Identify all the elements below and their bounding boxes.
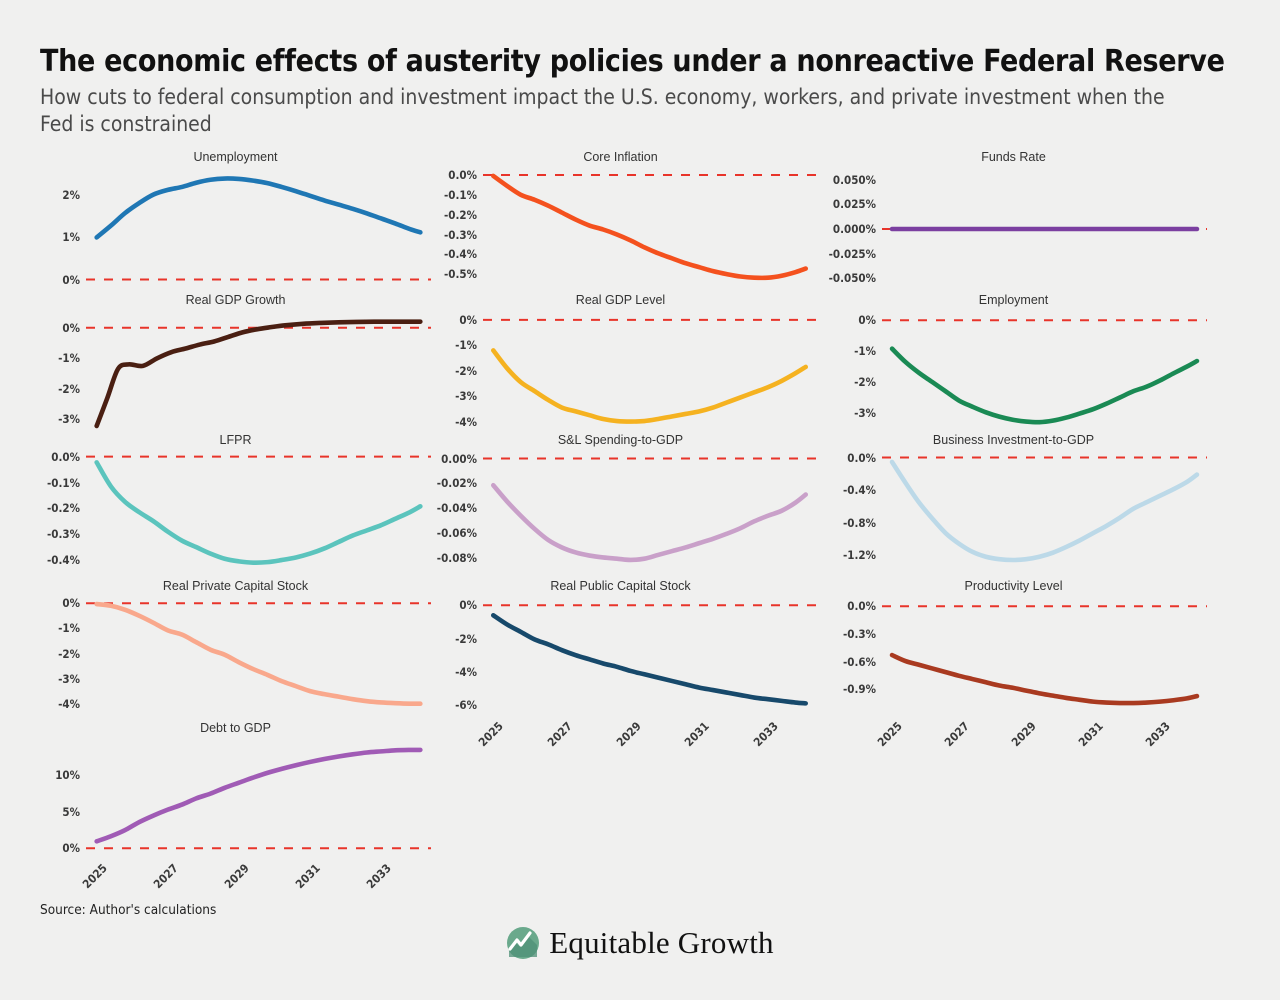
plot-area [882,311,1207,433]
x-axis: 20252027202920312033 [882,715,1207,759]
y-tick-label: 0.0% [847,599,876,613]
plot-area [86,739,431,857]
y-tick-label: -2% [58,647,80,661]
x-tick-label: 2033 [1143,719,1173,749]
plot-area [86,451,431,573]
plot-area [86,597,431,715]
y-tick-label: -0.08% [437,551,477,565]
panel-title: S&L Spending-to-GDP [425,433,816,447]
plot-area [483,451,816,573]
panel-title: Unemployment [40,150,431,164]
y-tick-label: 0.0% [847,451,876,465]
y-axis: 0.0%-0.3%-0.6%-0.9% [820,597,876,715]
y-tick-label: -0.5% [444,267,477,281]
y-tick-label: -0.06% [437,526,477,540]
panel-title: Core Inflation [425,150,816,164]
y-tick-label: 0% [62,596,80,610]
y-tick-label: -0.6% [843,655,876,669]
y-tick-label: 5% [62,805,80,819]
y-tick-label: -0.3% [843,627,876,641]
panel-title: Real Public Capital Stock [425,579,816,593]
data-line [493,485,805,560]
y-tick-label: 0% [858,313,876,327]
chart-panel: Business Investment-to-GDP0.0%-0.4%-0.8%… [820,433,1207,573]
y-tick-label: -2% [58,382,80,396]
plot-area [882,168,1207,290]
x-tick-label: 2029 [1009,719,1039,749]
y-tick-label: 0% [459,598,477,612]
chart-panel: Real Public Capital Stock0%-2%-4%-6%2025… [425,579,816,759]
y-axis: 0%1%2% [40,168,80,290]
x-tick-label: 2025 [79,861,109,891]
y-tick-label: -1% [455,338,477,352]
y-tick-label: -0.8% [843,516,876,530]
y-tick-label: 0.0% [448,168,477,182]
data-line [97,178,421,237]
data-line [97,462,421,562]
y-tick-label: 2% [62,188,80,202]
y-tick-label: -4% [455,665,477,679]
page-title: The economic effects of austerity polici… [40,46,1250,78]
y-tick-label: -2% [455,632,477,646]
y-tick-label: 0.025% [833,197,876,211]
y-tick-label: -4% [455,415,477,429]
y-tick-label: 0.000% [833,222,876,236]
y-tick-label: 0% [459,313,477,327]
chart-panel: Employment0%-1%-2%-3% [820,293,1207,433]
y-tick-label: 10% [55,768,80,782]
panel-title: Debt to GDP [40,721,431,735]
chart-grid: Unemployment0%1%2%Core Inflation0.0%-0.1… [0,146,1280,886]
y-tick-label: 0% [62,321,80,335]
y-tick-label: -3% [455,389,477,403]
x-tick-label: 2031 [293,861,323,891]
equitable-growth-logo-icon [506,926,540,960]
y-tick-label: -0.4% [444,247,477,261]
x-tick-label: 2029 [613,719,643,749]
x-tick-label: 2027 [150,861,180,891]
x-tick-label: 2033 [751,719,781,749]
y-axis: 0%-1%-2%-3%-4% [425,311,477,433]
infographic-page: The economic effects of austerity polici… [0,0,1280,1000]
panel-title: Real GDP Growth [40,293,431,307]
y-axis: 0.0%-0.1%-0.2%-0.3%-0.4%-0.5% [425,168,477,290]
chart-panel: Real Private Capital Stock0%-1%-2%-3%-4% [40,579,431,715]
y-tick-label: -2% [455,364,477,378]
y-tick-label: -0.3% [47,527,80,541]
panel-title: Real GDP Level [425,293,816,307]
y-axis: 0%5%10% [40,739,80,857]
data-line [892,655,1197,703]
plot-area [86,168,431,290]
y-tick-label: -1.2% [843,548,876,562]
data-line [493,615,805,703]
chart-panel: Funds Rate0.050%0.025%0.000%-0.025%-0.05… [820,150,1207,290]
chart-panel: LFPR0.0%-0.1%-0.2%-0.3%-0.4% [40,433,431,573]
brand-logo: Equitable Growth [0,925,1280,961]
y-tick-label: 1% [62,230,80,244]
y-axis: 0%-1%-2%-3% [820,311,876,433]
y-tick-label: -0.4% [47,553,80,567]
y-tick-label: -4% [58,697,80,711]
x-tick-label: 2025 [476,719,506,749]
y-tick-label: 0.0% [51,450,80,464]
y-tick-label: -0.025% [829,247,876,261]
data-line [493,350,805,421]
y-axis: 0%-1%-2%-3% [40,311,80,433]
data-line [892,349,1197,423]
chart-panel: S&L Spending-to-GDP0.00%-0.02%-0.04%-0.0… [425,433,816,573]
panel-title: Funds Rate [820,150,1207,164]
data-line [97,750,421,841]
y-tick-label: -0.2% [47,501,80,515]
y-axis: 0%-2%-4%-6% [425,597,477,715]
data-line [97,322,421,426]
y-tick-label: -3% [58,672,80,686]
y-tick-label: 0% [62,273,80,287]
plot-area [483,168,816,290]
chart-panel: Unemployment0%1%2% [40,150,431,290]
panel-title: Business Investment-to-GDP [820,433,1207,447]
chart-panel: Core Inflation0.0%-0.1%-0.2%-0.3%-0.4%-0… [425,150,816,290]
plot-area [86,311,431,433]
y-axis: 0%-1%-2%-3%-4% [40,597,80,715]
y-tick-label: -1% [854,344,876,358]
x-tick-label: 2031 [682,719,712,749]
chart-panel: Real GDP Level0%-1%-2%-3%-4% [425,293,816,433]
x-tick-label: 2031 [1076,719,1106,749]
y-tick-label: 0.050% [833,173,876,187]
x-tick-label: 2027 [545,719,575,749]
plot-area [882,451,1207,573]
y-tick-label: -0.02% [437,476,477,490]
data-line [97,604,421,704]
x-tick-label: 2027 [942,719,972,749]
chart-panel: Real GDP Growth0%-1%-2%-3% [40,293,431,433]
y-tick-label: -0.1% [47,476,80,490]
panel-title: LFPR [40,433,431,447]
y-tick-label: -0.2% [444,208,477,222]
y-axis: 0.00%-0.02%-0.04%-0.06%-0.08% [425,451,477,573]
y-tick-label: -1% [58,351,80,365]
data-line [892,462,1197,560]
x-tick-label: 2033 [364,861,394,891]
data-line [493,176,805,278]
y-tick-label: -0.050% [829,271,876,285]
y-tick-label: 0.00% [441,452,477,466]
panel-title: Real Private Capital Stock [40,579,431,593]
panel-title: Productivity Level [820,579,1207,593]
y-tick-label: -6% [455,698,477,712]
y-tick-label: -3% [58,412,80,426]
y-tick-label: -0.1% [444,188,477,202]
panel-title: Employment [820,293,1207,307]
page-subtitle: How cuts to federal consumption and inve… [40,84,1200,138]
source-note: Source: Author's calculations [40,902,216,918]
y-tick-label: -3% [854,406,876,420]
y-axis: 0.0%-0.4%-0.8%-1.2% [820,451,876,573]
y-axis: 0.0%-0.1%-0.2%-0.3%-0.4% [40,451,80,573]
chart-panel: Debt to GDP0%5%10%20252027202920312033 [40,721,431,901]
y-axis: 0.050%0.025%0.000%-0.025%-0.050% [820,168,876,290]
chart-panel: Productivity Level0.0%-0.3%-0.6%-0.9%202… [820,579,1207,759]
y-tick-label: -0.4% [843,483,876,497]
y-tick-label: 0% [62,841,80,855]
plot-area [882,597,1207,715]
logo-text: Equitable Growth [549,925,773,961]
x-axis: 20252027202920312033 [483,715,816,759]
x-tick-label: 2029 [221,861,251,891]
y-tick-label: -0.3% [444,228,477,242]
y-tick-label: -2% [854,375,876,389]
x-axis: 20252027202920312033 [86,857,431,901]
y-tick-label: -0.9% [843,682,876,696]
x-tick-label: 2025 [875,719,905,749]
plot-area [483,311,816,433]
y-tick-label: -1% [58,621,80,635]
y-tick-label: -0.04% [437,501,477,515]
plot-area [483,597,816,715]
